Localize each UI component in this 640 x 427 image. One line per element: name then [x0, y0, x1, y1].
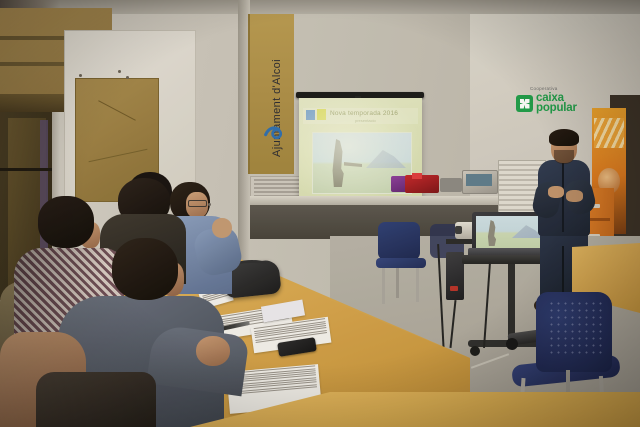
cabinet-shelf-line	[0, 168, 52, 171]
presenter-hand-left	[548, 186, 564, 198]
chair-leg-3	[396, 268, 399, 298]
equipment-red-case	[405, 175, 439, 193]
presenter-hand-right	[566, 190, 583, 202]
back-counter-top	[250, 196, 520, 205]
ajuntament-logo-icon	[262, 120, 284, 142]
presenter-beard	[554, 150, 574, 164]
cart-column	[508, 264, 515, 342]
equipment-stand-caster	[506, 338, 518, 350]
equipment-grey-box	[440, 178, 462, 192]
presenter-hair	[549, 129, 579, 146]
cart-caster-left	[470, 346, 480, 356]
pin-left	[79, 74, 82, 77]
caixa-coop-text: Cooperativa	[530, 86, 612, 91]
chair-leg-2	[416, 268, 419, 302]
blue-chair-seat[interactable]	[376, 258, 426, 268]
presenter-shirt-placket	[562, 162, 564, 232]
caixa-word-2: popular	[536, 103, 577, 114]
chair-perforation-pattern	[548, 300, 604, 354]
projector-lens-icon	[455, 226, 462, 234]
attendee-3-glasses	[188, 200, 207, 207]
photo-scene: Ajuntament d'Alcoi Nova temporada 2016 p…	[0, 0, 640, 427]
attendee-1-hand	[196, 336, 230, 366]
pin-right	[126, 76, 129, 79]
counter-monitor-screen	[466, 174, 492, 186]
tower-power-led	[450, 286, 458, 291]
caixa-logo-icon	[516, 95, 533, 112]
poster-stripes	[594, 118, 624, 148]
pin-mid	[118, 70, 121, 73]
wall-speck	[208, 203, 211, 206]
attendee-1-head	[112, 238, 178, 300]
attendee-2-head	[38, 196, 94, 248]
chair-leg-1	[382, 268, 385, 304]
blue-chair-back[interactable]	[378, 222, 420, 260]
equipment-red-top	[412, 173, 422, 179]
attendee-3-hand	[212, 218, 232, 238]
ajuntament-banner: Ajuntament d'Alcoi	[248, 14, 294, 174]
attendee-foreground-shadow	[36, 372, 156, 427]
